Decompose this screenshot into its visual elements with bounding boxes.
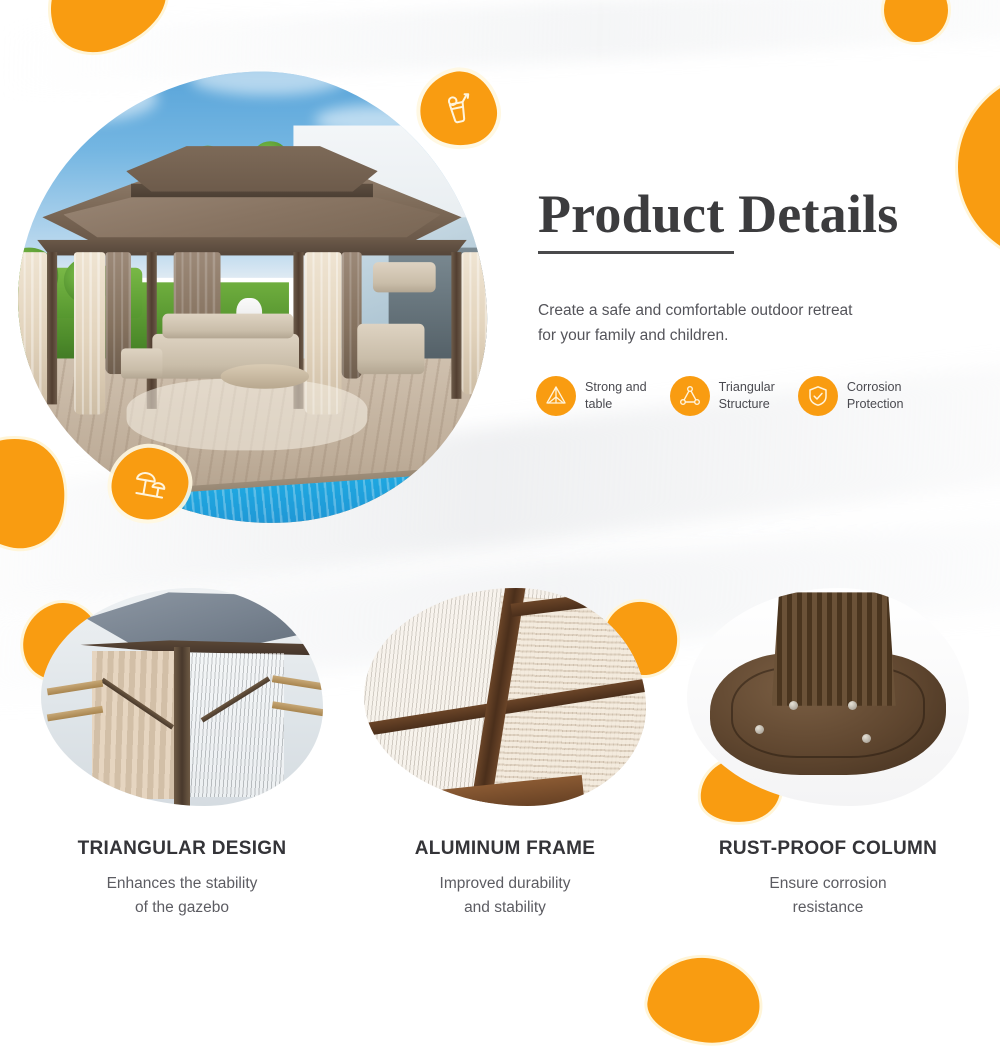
title-underline [538,251,734,254]
card-description: Enhances the stability of the gazebo [22,872,342,919]
gazebo-curtain [74,252,105,414]
gazebo-post [48,252,58,404]
detail-card-rust-proof-column: RUST-PROOF COLUMN Ensure corrosion resis… [668,588,988,919]
card-title: ALUMINUM FRAME [345,838,665,860]
detail-card-aluminum-frame: ALUMINUM FRAME Improved durability and s… [345,588,665,919]
detail-card-list: TRIANGULAR DESIGN Enhances the stability… [0,588,1000,968]
card-title: RUST-PROOF COLUMN [668,838,988,860]
decor-blob-top-right-dot [884,0,948,42]
product-details-infographic: Product Details Create a safe and comfor… [0,0,1000,1000]
feature-strong-and-stable: Strong and table [536,376,647,416]
hero-gazebo-photo [6,60,497,536]
corner-post [174,647,191,806]
triangular-corner-brace-photo [41,588,323,806]
triangular-structure-icon [670,376,710,416]
card-title: TRIANGULAR DESIGN [22,838,342,860]
gazebo-curtain [16,252,47,404]
anchor-bolt [755,725,764,734]
card-description: Ensure corrosion resistance [668,872,988,919]
anchor-bolt [789,701,798,710]
shield-check-icon [798,376,838,416]
cloud [21,75,157,121]
gazebo-curtain [462,252,493,394]
page-subtitle: Create a safe and comfortable outdoor re… [538,298,868,348]
anchor-bolt [862,734,871,743]
feature-badge-list: Strong and table Triangular Structure [536,376,976,416]
cloud [189,60,346,95]
column-shaft [772,592,896,705]
header-block: Product Details Create a safe and comfor… [538,186,958,348]
outdoor-rug [126,379,367,450]
decor-blob-right-large [958,72,1000,262]
feature-triangular-structure: Triangular Structure [670,376,775,416]
gazebo-post [147,252,157,409]
decor-blob-top [36,0,178,64]
rust-proof-column-base-photo [687,588,969,806]
feature-label: Corrosion Protection [847,379,904,413]
mosquito-mesh [188,653,284,797]
feature-corrosion-protection: Corrosion Protection [798,376,904,416]
gazebo-post [451,252,461,399]
patio-sofa-back [163,313,294,338]
side-table [121,349,163,379]
page-title: Product Details [538,186,958,243]
card-description: Improved durability and stability [345,872,665,919]
detail-card-triangular-design: TRIANGULAR DESIGN Enhances the stability… [22,588,342,919]
aluminum-frame-crossbeam-photo [364,588,646,806]
indoor-sofa [373,263,436,293]
feature-label: Triangular Structure [719,379,775,413]
patio-armchair [357,323,425,374]
pyramid-triangle-icon [536,376,576,416]
feature-label: Strong and table [585,379,647,413]
